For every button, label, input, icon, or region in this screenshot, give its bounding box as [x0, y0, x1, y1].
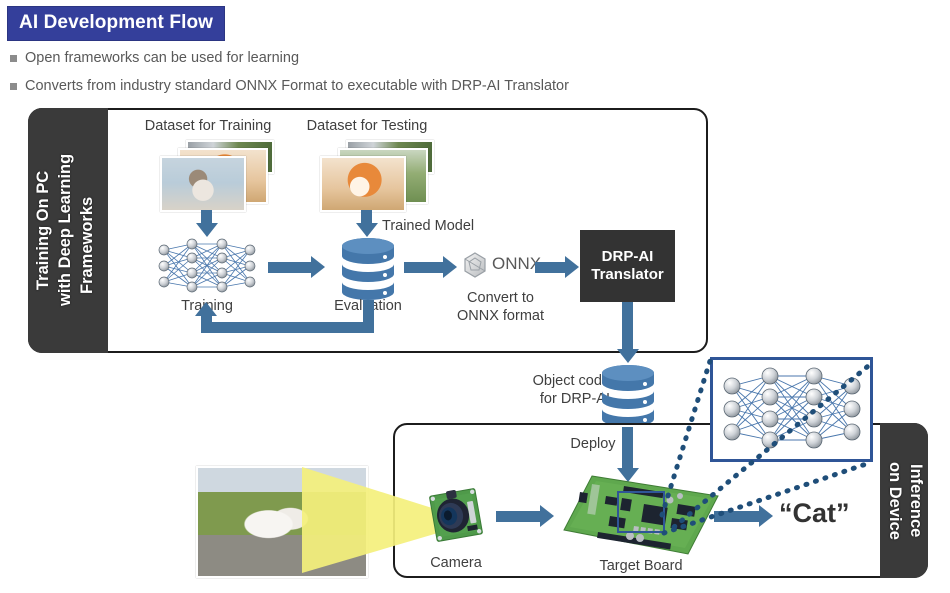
arrow-onnx-to-translator [535, 256, 581, 278]
page-title: AI Development Flow [7, 6, 225, 41]
translator-line-2: Translator [591, 266, 664, 283]
bullet-text: Converts from industry standard ONNX For… [25, 78, 569, 94]
dataset-testing-photo-stack [320, 140, 432, 210]
convert-to-onnx-label: Convert to ONNX format [438, 289, 563, 325]
object-code-label: Object code for DRP-AI [500, 372, 610, 408]
dataset-for-testing-label: Dataset for Testing [292, 118, 442, 134]
database-cylinder-icon [340, 238, 396, 300]
neural-network-icon [152, 236, 262, 296]
bullet-text: Open frameworks can be used for learning [25, 50, 299, 66]
arrow-camera-to-board [496, 505, 556, 527]
database-cylinder-icon [600, 365, 656, 427]
arrow-evaluation-feedback-loop [190, 300, 380, 344]
arrow-training-to-evaluation [268, 256, 326, 278]
training-panel-side-label-2: with Deep Learning [56, 120, 76, 340]
camera-module-icon [425, 484, 487, 546]
camera-label: Camera [411, 555, 501, 571]
target-board-label: Target Board [586, 558, 696, 574]
square-bullet-icon [10, 55, 17, 62]
board-roi-highlight [617, 491, 665, 533]
slide-root: AI Development Flow Open frameworks can … [0, 0, 950, 593]
arrow-evaluation-to-onnx [404, 256, 460, 278]
cat-photo-icon [160, 156, 246, 212]
arrow-board-to-result [714, 505, 776, 527]
translator-line-1: DRP-AI [602, 248, 654, 265]
arrow-dataset-to-evaluation [356, 210, 378, 236]
inference-panel-side-label-2: on Device [884, 435, 904, 567]
cat-photo-icon [320, 156, 406, 212]
inference-panel-side-label: Inference [905, 435, 925, 567]
inference-result-label: “Cat” [779, 498, 850, 529]
training-panel-side-label-3: Frameworks [78, 150, 98, 340]
neural-network-icon [718, 364, 866, 454]
onnx-logo-icon [461, 251, 489, 279]
arrow-dataset-to-training [196, 210, 218, 236]
dataset-training-photo-stack [160, 140, 272, 210]
bullet-item: Converts from industry standard ONNX For… [10, 78, 569, 94]
training-panel-side-label: Training On PC [34, 120, 54, 340]
arrow-translator-to-object-code [617, 302, 639, 364]
square-bullet-icon [10, 83, 17, 90]
dataset-for-training-label: Dataset for Training [133, 118, 283, 134]
drp-ai-translator-box: DRP-AI Translator [580, 230, 675, 302]
trained-model-label: Trained Model [382, 218, 512, 234]
bullet-item: Open frameworks can be used for learning [10, 50, 299, 66]
